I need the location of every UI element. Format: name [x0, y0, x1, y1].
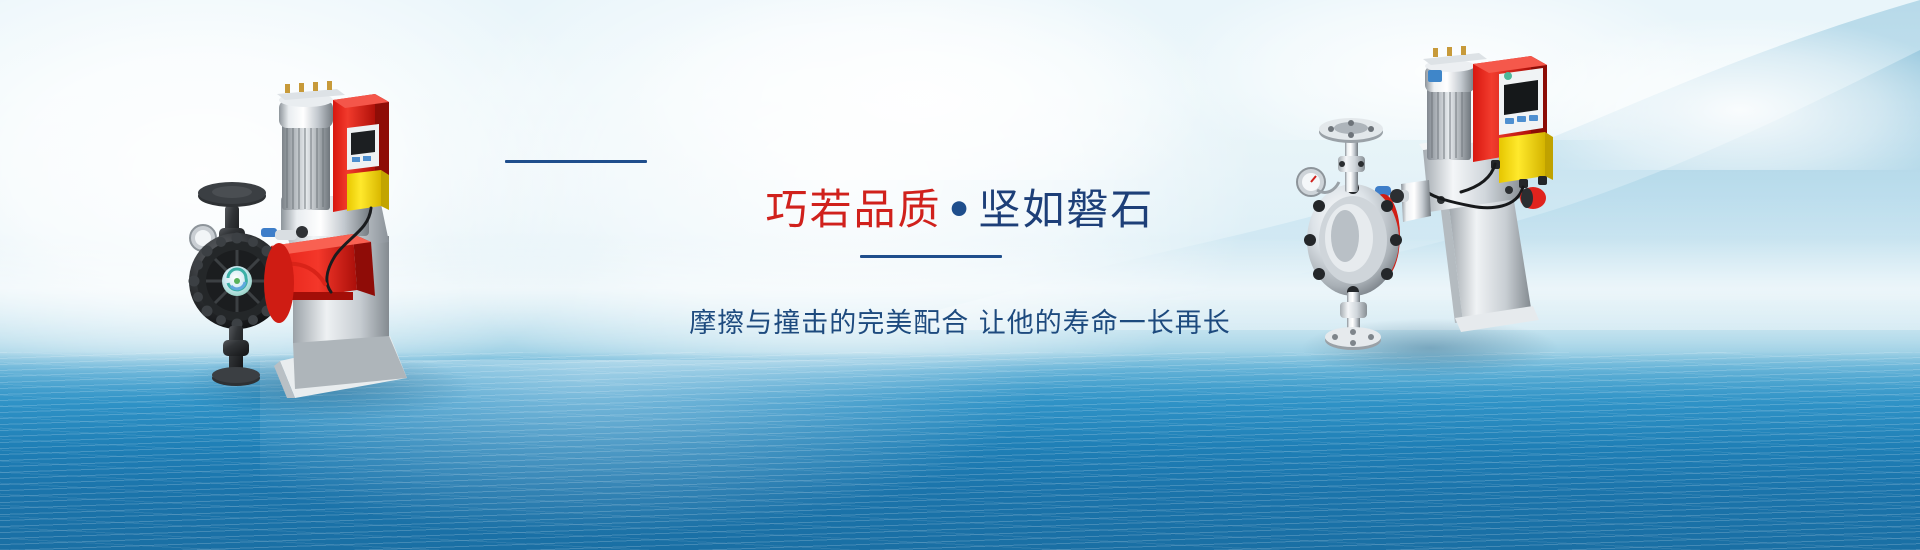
banner-copy-block: 巧若品质•坚如磐石 摩擦与撞击的完美配合 让他的寿命一长再长: [0, 160, 1920, 342]
swirl-logo-icon: [1504, 72, 1512, 80]
headline-red-part: 巧若品质: [766, 185, 942, 234]
subheadline: 摩擦与撞击的完美配合 让他的寿命一长再长: [0, 306, 1920, 342]
headline-separator: •: [942, 185, 979, 234]
right-pump-nameplate: [1428, 70, 1442, 82]
lcd-screen-icon: [351, 130, 375, 155]
headline: 巧若品质•坚如磐石: [0, 185, 1920, 235]
lcd-screen-icon: [1504, 80, 1538, 115]
headline-rule-top: [505, 160, 647, 163]
hero-banner: 巧若品质•坚如磐石 摩擦与撞击的完美配合 让他的寿命一长再长: [0, 0, 1920, 550]
headline-blue-part: 坚如磐石: [978, 185, 1154, 234]
headline-rule-bottom: [860, 255, 1002, 258]
right-pump-control-display: [1499, 68, 1543, 135]
